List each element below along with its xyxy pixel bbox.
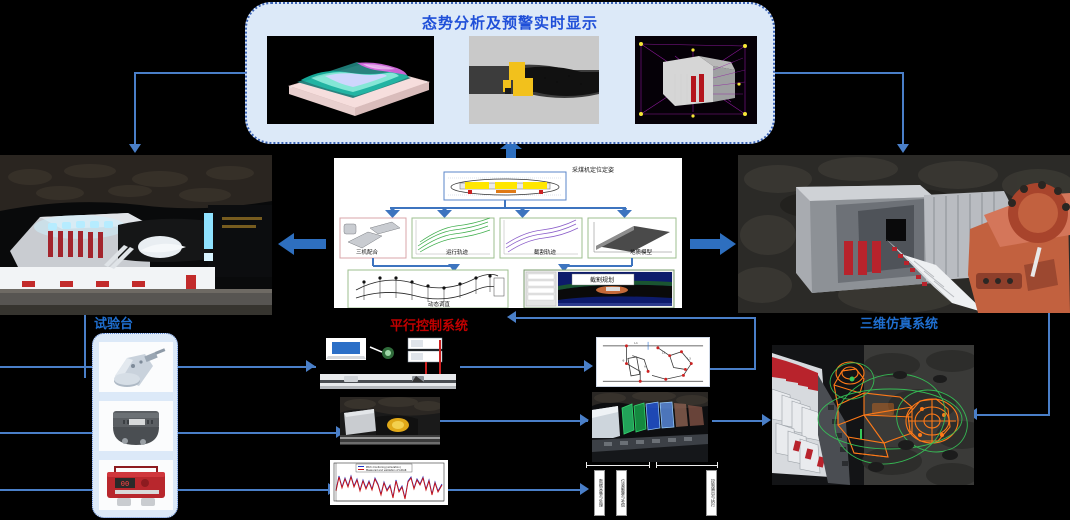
3d-longwall-face-simulation[interactable]: [738, 155, 1070, 313]
svg-text:地质模型: 地质模型: [630, 248, 653, 256]
segmented-support-recognition-image[interactable]: [592, 392, 708, 462]
arrow-center-to-testbed: [278, 233, 326, 255]
physical-test-bench-photo[interactable]: [0, 155, 272, 315]
svg-text:L1: L1: [634, 341, 638, 345]
connector-top-to-left-horizontal: [134, 72, 246, 74]
panel-title: 态势分析及预警实时显示: [247, 12, 773, 33]
arrowhead-rail-to-cad: [584, 360, 593, 372]
situation-display-panel[interactable]: 态势分析及预警实时显示: [245, 2, 775, 144]
svg-text:θ: θ: [623, 359, 625, 363]
arrowhead-chart-to-right: [580, 483, 589, 495]
cad-kinematic-linkage-diagram[interactable]: L1L2L3 θh: [596, 337, 710, 387]
scale-ruler-right: [656, 462, 718, 468]
connector-top-to-left-vertical: [134, 72, 136, 144]
arrowhead-seg-to-botsim: [762, 414, 771, 426]
inclination-sensor-image[interactable]: [99, 342, 173, 392]
svg-text:运行轨迹: 运行轨迹: [446, 248, 469, 256]
svg-text:h: h: [644, 364, 646, 368]
connector-feedback-branch: [710, 368, 756, 370]
connector-feedback-vertical: [754, 317, 756, 369]
coal-seam-surface-plot[interactable]: [267, 36, 434, 124]
label-test-bench: 试验台: [94, 313, 133, 332]
label-3d-simulation: 三维仿真系统: [860, 313, 938, 332]
label-parallel-control: 平行控制系统: [390, 315, 468, 334]
arrowhead-feedback: [507, 311, 516, 323]
connector-feedback-horizontal: [512, 317, 756, 319]
svg-text:动态调直: 动态调直: [428, 300, 451, 308]
gyro-inertial-unit-image[interactable]: [99, 401, 173, 451]
3d-shearer-wireframe-simulation[interactable]: [772, 345, 974, 485]
connector-sim3d-to-botsim: [976, 414, 1050, 416]
svg-text:L2: L2: [662, 351, 666, 355]
connector-rail-to-cad: [452, 366, 590, 368]
figure-canvas: 态势分析及预警实时显示: [0, 0, 1070, 520]
svg-text:L3: L3: [687, 357, 691, 361]
svg-text:截割轨迹: 截割轨迹: [534, 248, 557, 256]
connector-testbed-down: [84, 312, 86, 378]
lab-rail-calibration-rig[interactable]: [316, 336, 460, 392]
connector-top-to-right-vertical: [902, 72, 904, 144]
connector-chart-to-right: [448, 489, 586, 491]
shearer-cutting-section-view[interactable]: [469, 36, 599, 124]
svg-text:00: 00: [121, 480, 129, 488]
arrowhead-top-to-right: [897, 144, 909, 153]
arrowhead-top-to-left: [129, 144, 141, 153]
explosion-proof-controller-image[interactable]: 00: [99, 460, 173, 510]
vertical-label-3: 控制输出与执行: [706, 470, 717, 516]
vertical-label-1: 数据采集与处理: [594, 470, 605, 516]
svg-text:采煤机定位定姿: 采煤机定位定姿: [572, 166, 614, 174]
connector-seg-to-botsim: [712, 420, 768, 422]
connector-tunnel-to-seg: [440, 420, 588, 422]
connector-top-to-right-horizontal: [772, 72, 904, 74]
underground-tunnel-photo[interactable]: [340, 397, 440, 445]
parallel-control-flow-diagram[interactable]: 多源融合分析 采煤机定位定姿: [334, 158, 682, 308]
connector-sim3d-down: [1048, 312, 1050, 416]
hydraulic-support-laser-scan-view[interactable]: [635, 36, 757, 124]
svg-text:三机配合: 三机配合: [356, 248, 379, 256]
arrowhead-into-rail-tile: [306, 360, 315, 372]
arrowhead-tunnel-to-seg: [580, 414, 589, 426]
arrow-center-to-sim3d: [690, 233, 736, 255]
vertical-label-2: 位姿解算与补偿: [616, 470, 627, 516]
svg-text:截割规划: 截割规划: [590, 276, 614, 284]
svg-text:Measured and validation of LiD: Measured and validation of LiDAR: [366, 469, 407, 472]
attitude-monitoring-chart[interactable]: Pitch monitoring (simulation) Measured a…: [330, 460, 448, 505]
sensor-group[interactable]: 00: [92, 333, 178, 518]
scale-ruler-left: [586, 462, 650, 468]
